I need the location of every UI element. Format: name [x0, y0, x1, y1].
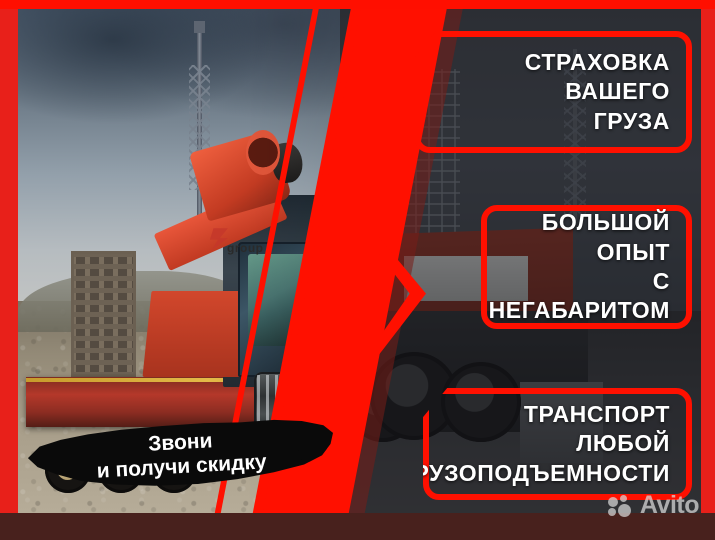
callout-capacity-line-2: ЛЮБОЙ: [400, 429, 670, 458]
frame-top-border: [0, 0, 715, 9]
callout-insurance-line-2: ВАШЕГО: [525, 77, 670, 106]
callout-experience: БОЛЬШОЙ ОПЫТ С НЕГАБАРИТОМ: [481, 205, 692, 329]
callout-experience-line-2: ОПЫТ: [489, 238, 670, 267]
callout-experience-line-1: БОЛЬШОЙ: [489, 208, 670, 237]
callout-insurance-line-3: ГРУЗА: [525, 107, 670, 136]
avito-wordmark: Avito: [640, 491, 699, 520]
callout-capacity: ТРАНСПОРТ ЛЮБОЙ ГРУЗОПОДЪЕМНОСТИ: [423, 388, 692, 500]
callout-insurance-text: СТРАХОВКА ВАШЕГО ГРУЗА: [525, 48, 670, 136]
avito-watermark: Avito: [608, 491, 699, 520]
callout-capacity-line-3: ГРУЗОПОДЪЕМНОСТИ: [400, 459, 670, 488]
frame-right-border: [701, 0, 715, 513]
avito-dots-icon: [608, 495, 634, 517]
callout-insurance: СТРАХОВКА ВАШЕГО ГРУЗА: [414, 31, 692, 153]
ad-banner-canvas: group LEOPARD СТРАХОВКА ВАШЕГО ГРУЗА: [0, 0, 715, 540]
frame-left-border: [0, 0, 18, 513]
callout-insurance-line-1: СТРАХОВКА: [525, 48, 670, 77]
callout-experience-text: БОЛЬШОЙ ОПЫТ С НЕГАБАРИТОМ: [489, 208, 670, 326]
brush-banner-line-2: и получи скидку: [96, 450, 267, 483]
callout-capacity-line-1: ТРАНСПОРТ: [400, 400, 670, 429]
callout-capacity-text: ТРАНСПОРТ ЛЮБОЙ ГРУЗОПОДЪЕМНОСТИ: [400, 400, 670, 488]
callout-experience-line-3: С НЕГАБАРИТОМ: [489, 267, 670, 326]
